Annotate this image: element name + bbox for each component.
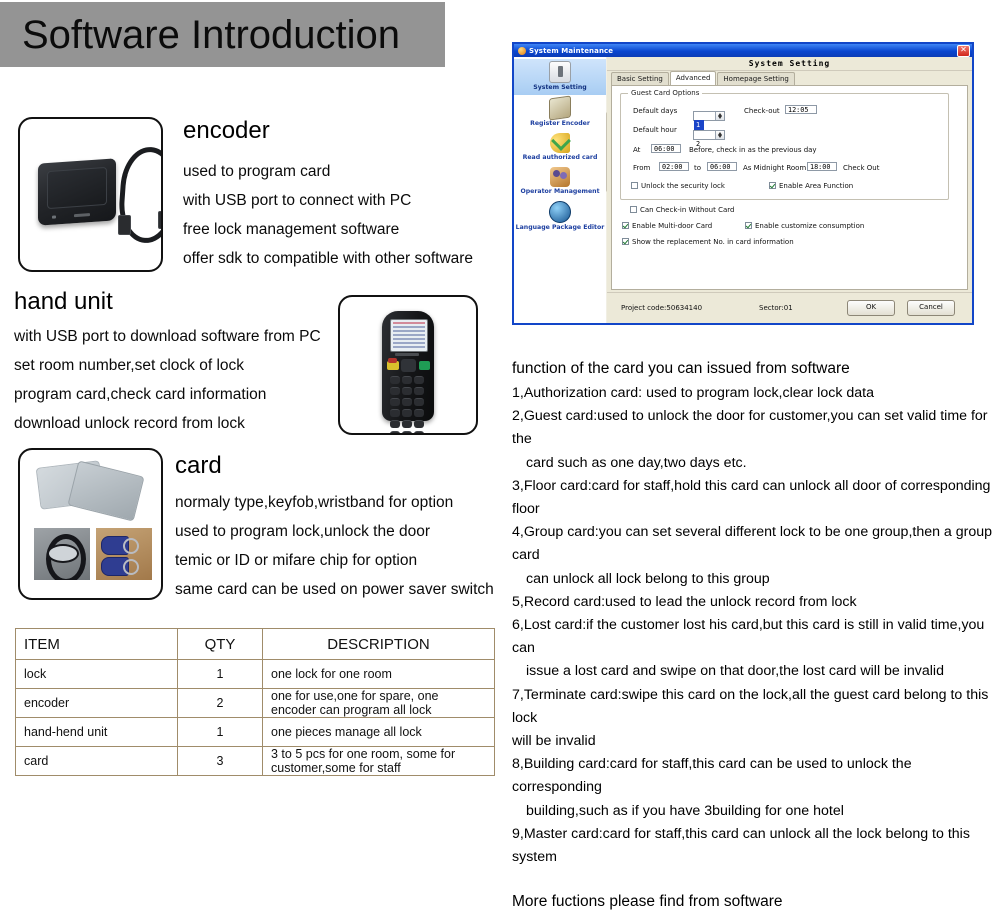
usb-plug-b-icon [158,211,163,229]
card-functions-block: function of the card you can issued from… [512,356,998,915]
cell-qty: 2 [178,689,263,718]
cancel-button[interactable]: Cancel [907,300,955,316]
function-item-main: 1,Authorization card: used to program lo… [512,385,874,401]
encoder-led-icon [52,215,56,218]
window-footer: Project code:50634140 Sector:01 OK Cance… [607,292,972,323]
hand-unit-brand-strip [395,353,419,356]
default-days-label: Default days [633,107,677,115]
tab-strip: Basic Setting Advanced Homepage Setting [607,71,972,85]
hand-unit-navpad-icon [401,359,416,372]
hand-unit-green-key-icon [419,361,430,370]
encoder-card-pad [47,167,107,209]
cell-qty: 3 [178,747,263,776]
table-row: encoder 2 one for use,one for spare, one… [16,689,495,718]
function-item-main: 8,Building card:card for staff,this card… [512,756,912,795]
at-label: At [633,146,640,154]
encoder-line-4: offer sdk to compatible with other softw… [183,244,473,273]
function-item: 8,Building card:card for staff,this card… [512,753,998,823]
ok-button[interactable]: OK [847,300,895,316]
cell-description: one for use,one for spare, one encoder c… [263,689,495,718]
encoder-line-3: free lock management software [183,215,473,244]
keyfob-icon-2 [101,557,129,576]
operator-management-icon [550,167,570,187]
checkbox-enable-area-function[interactable]: Enable Area Function [769,182,853,190]
cell-qty: 1 [178,660,263,689]
checkbox-label: Enable Multi-door Card [632,222,712,230]
hand-unit-line-1: with USB port to download software from … [14,322,321,351]
checkbox-enable-multi-door-card[interactable]: Enable Multi-door Card [622,222,712,230]
hand-unit-title: hand unit [14,288,113,316]
to-time-input[interactable]: 06:00 [707,162,737,171]
checkbox-can-checkin-without-card[interactable]: Can Check-in Without Card [630,206,734,214]
group-legend: Guest Card Options [628,89,702,97]
function-item: 2,Guest card:used to unlock the door for… [512,405,998,475]
sidebar-item-register-encoder[interactable]: Register Encoder [514,95,606,131]
column-header-qty: QTY [178,629,263,660]
checkbox-label: Enable Area Function [779,182,853,190]
check-out-label: Check Out [843,164,879,172]
wristband-face-icon [47,544,79,563]
cell-item: lock [16,660,178,689]
hand-unit-line-4: download unlock record from lock [14,409,321,438]
function-item: 4,Group card:you can set several differe… [512,521,998,591]
checkbox-show-replacement-no[interactable]: Show the replacement No. in card informa… [622,238,794,246]
sidebar-item-read-authorized-card[interactable]: Read authorized card [514,131,606,165]
sidebar-item-label: Operator Management [514,188,606,196]
checkout-label: Check-out [744,107,780,115]
column-header-item: ITEM [16,629,178,660]
guest-card-options-group: Guest Card Options Default days 1 Check-… [620,93,949,200]
default-hour-stepper[interactable]: 2 [693,130,725,140]
sidebar-item-label: System Setting [514,84,606,92]
hand-unit-device-image [382,311,434,421]
function-item-main: 9,Master card:card for staff,this card c… [512,826,970,865]
wristband-photo [34,528,90,580]
function-item-main: 3,Floor card:card for staff,hold this ca… [512,478,990,517]
checkbox-icon[interactable] [622,222,629,229]
function-item: 9,Master card:card for staff,this card c… [512,823,998,869]
function-item-main: will be invalid [512,733,596,749]
function-item-main: 5,Record card:used to lead the unlock re… [512,594,857,610]
hand-unit-line-3: program card,check card information [14,380,321,409]
system-setting-icon [549,61,571,83]
stepper-arrows-icon[interactable] [715,112,724,120]
function-item-cont: can unlock all lock belong to this group [512,568,998,591]
encoder-title: encoder [183,117,270,145]
cell-description: one pieces manage all lock [263,718,495,747]
cell-qty: 1 [178,718,263,747]
checkbox-label: Enable customize consumption [755,222,864,230]
function-item: 7,Terminate card:swipe this card on the … [512,684,998,730]
panel-heading: System Setting [607,57,972,71]
cell-item: card [16,747,178,776]
midnight-room-label: As Midnight Room [743,164,806,172]
cell-description: 3 to 5 pcs for one room, some for custom… [263,747,495,776]
system-maintenance-window: System Maintenance ✕ System Setting Regi… [512,42,974,325]
table-row: hand-hend unit 1 one pieces manage all l… [16,718,495,747]
checkout-time-input[interactable]: 12:05 [785,105,817,114]
function-item-wrap: will be invalid [512,730,998,753]
sidebar-item-language-package-editor[interactable]: Language Package Editor [514,199,606,235]
checkbox-icon[interactable] [622,238,629,245]
checkbox-icon[interactable] [745,222,752,229]
function-item-main: 4,Group card:you can set several differe… [512,524,992,563]
table-row: card 3 3 to 5 pcs for one room, some for… [16,747,495,776]
encoder-label-strip [74,213,90,217]
checkbox-unlock-security-lock[interactable]: Unlock the security lock [631,182,725,190]
default-days-stepper[interactable]: 1 [693,111,725,121]
card-blank-front-image [67,460,144,521]
sidebar-item-label: Register Encoder [514,120,606,128]
function-item: 6,Lost card:if the customer lost his car… [512,614,998,684]
function-item: 5,Record card:used to lead the unlock re… [512,591,998,614]
window-sidebar: System Setting Register Encoder Read aut… [514,57,607,323]
close-icon[interactable]: ✕ [957,45,970,57]
function-item-main: 7,Terminate card:swipe this card on the … [512,687,988,726]
column-header-description: DESCRIPTION [263,629,495,660]
checkbox-label: Can Check-in Without Card [640,206,734,214]
default-hour-label: Default hour [633,126,677,134]
checkbox-icon[interactable] [769,182,776,189]
at-note: Before, check in as the previous day [689,146,817,154]
page-title-band: Software Introduction [0,2,445,67]
language-package-editor-icon [549,201,571,223]
window-main-panel: System Setting Basic Setting Advanced Ho… [607,57,972,323]
card-line-4: same card can be used on power saver swi… [175,575,494,604]
sidebar-item-system-setting[interactable]: System Setting [514,59,606,95]
hand-unit-keypad [389,374,427,416]
page-title: Software Introduction [22,11,400,59]
from-time-input[interactable]: 02:00 [659,162,689,171]
encoder-line-2: with USB port to connect with PC [183,186,473,215]
sidebar-item-label: Language Package Editor [514,224,606,232]
window-title: System Maintenance [529,47,613,55]
cell-item: hand-hend unit [16,718,178,747]
encoder-photo-box [18,117,163,272]
hand-unit-description: with USB port to download software from … [14,322,321,438]
card-line-3: temic or ID or mifare chip for option [175,546,494,575]
app-logo-icon [518,47,526,55]
register-encoder-icon [549,95,571,120]
keyfob-icon-1 [101,536,129,555]
encoder-line-1: used to program card [183,157,473,186]
checkbox-label: Unlock the security lock [641,182,725,190]
table-header-row: ITEM QTY DESCRIPTION [16,629,495,660]
card-line-1: normaly type,keyfob,wristband for option [175,488,494,517]
stepper-arrows-icon[interactable] [715,131,724,139]
usb-plug-a-icon [118,215,131,235]
function-item-main: 2,Guest card:used to unlock the door for… [512,408,988,447]
hand-unit-red-key-icon [388,358,397,363]
midnight-room-time-input[interactable]: 18:00 [807,162,837,171]
card-functions-heading: function of the card you can issued from… [512,356,998,382]
function-item: 1,Authorization card: used to program lo… [512,382,998,405]
function-item: 3,Floor card:card for staff,hold this ca… [512,475,998,521]
project-code: Project code:50634140 [621,304,702,312]
card-line-2: used to program lock,unlock the door [175,517,494,546]
tab-advanced[interactable]: Advanced [670,71,717,85]
table-row: lock 1 one lock for one room [16,660,495,689]
card-photo-box [18,448,163,600]
tab-homepage-setting[interactable]: Homepage Setting [717,72,794,85]
hand-unit-photo-box [338,295,478,435]
checkbox-label: Show the replacement No. in card informa… [632,238,794,246]
function-item-cont: card such as one day,two days etc. [512,452,998,475]
checkbox-icon[interactable] [631,182,638,189]
sidebar-item-label: Read authorized card [514,154,606,162]
cell-description: one lock for one room [263,660,495,689]
card-title: card [175,452,222,480]
read-authorized-card-icon [550,133,570,153]
sidebar-item-operator-management[interactable]: Operator Management [514,165,606,199]
tab-basic-setting[interactable]: Basic Setting [611,72,669,85]
cell-item: encoder [16,689,178,718]
function-item-main: 6,Lost card:if the customer lost his car… [512,617,984,656]
spec-table: ITEM QTY DESCRIPTION lock 1 one lock for… [15,628,495,776]
hand-unit-screen [390,319,428,352]
at-time-input[interactable]: 06:00 [651,144,681,153]
encoder-device-image [38,158,116,225]
window-titlebar[interactable]: System Maintenance ✕ [514,44,972,57]
sector-label: Sector:01 [759,304,793,312]
checkbox-enable-customize-consumption[interactable]: Enable customize consumption [745,222,864,230]
checkbox-icon[interactable] [630,206,637,213]
function-item-cont: issue a lost card and swipe on that door… [512,660,998,683]
encoder-description: used to program card with USB port to co… [183,157,473,273]
to-label: to [694,164,701,172]
tab-pane-advanced: Guest Card Options Default days 1 Check-… [611,85,968,290]
from-label: From [633,164,650,172]
hand-unit-line-2: set room number,set clock of lock [14,351,321,380]
card-description: normaly type,keyfob,wristband for option… [175,488,494,604]
window-body: System Setting Register Encoder Read aut… [514,57,972,323]
spec-table-wrap: ITEM QTY DESCRIPTION lock 1 one lock for… [15,628,495,776]
function-item-cont: building,such as if you have 3building f… [512,800,998,823]
more-functions-note: More fuctions please find from software [512,889,998,915]
keyfob-photo [96,528,152,580]
